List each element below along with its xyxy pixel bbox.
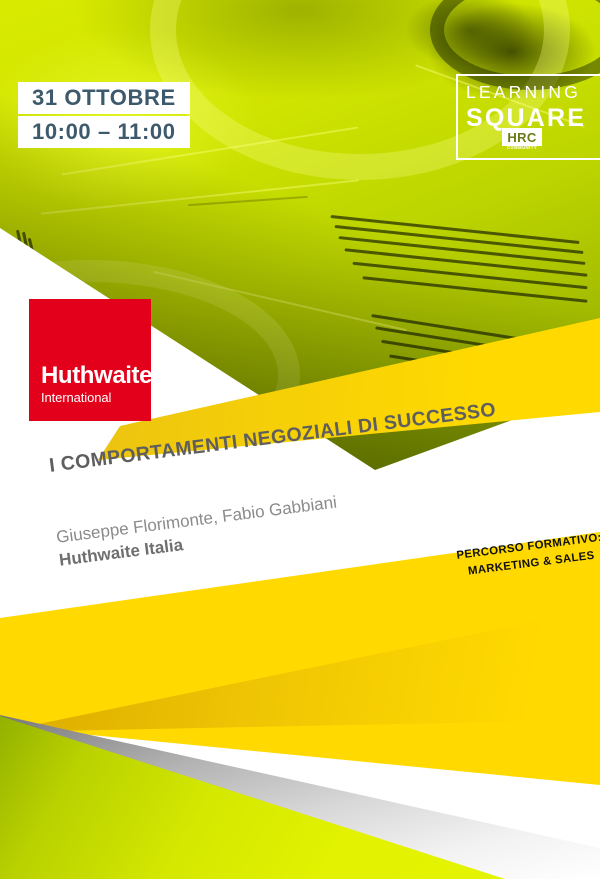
- speaker-block: Giuseppe Florimonte, Fabio Gabbiani Huth…: [55, 473, 487, 572]
- main-content: I COMPORTAMENTI NEGOZIALI DI SUCCESSO Gi…: [0, 0, 600, 879]
- event-poster: 31 OTTOBRE 10:00 – 11:00 LEARNING SQUARE…: [0, 0, 600, 879]
- page-title: I COMPORTAMENTI NEGOZIALI DI SUCCESSO: [48, 396, 517, 478]
